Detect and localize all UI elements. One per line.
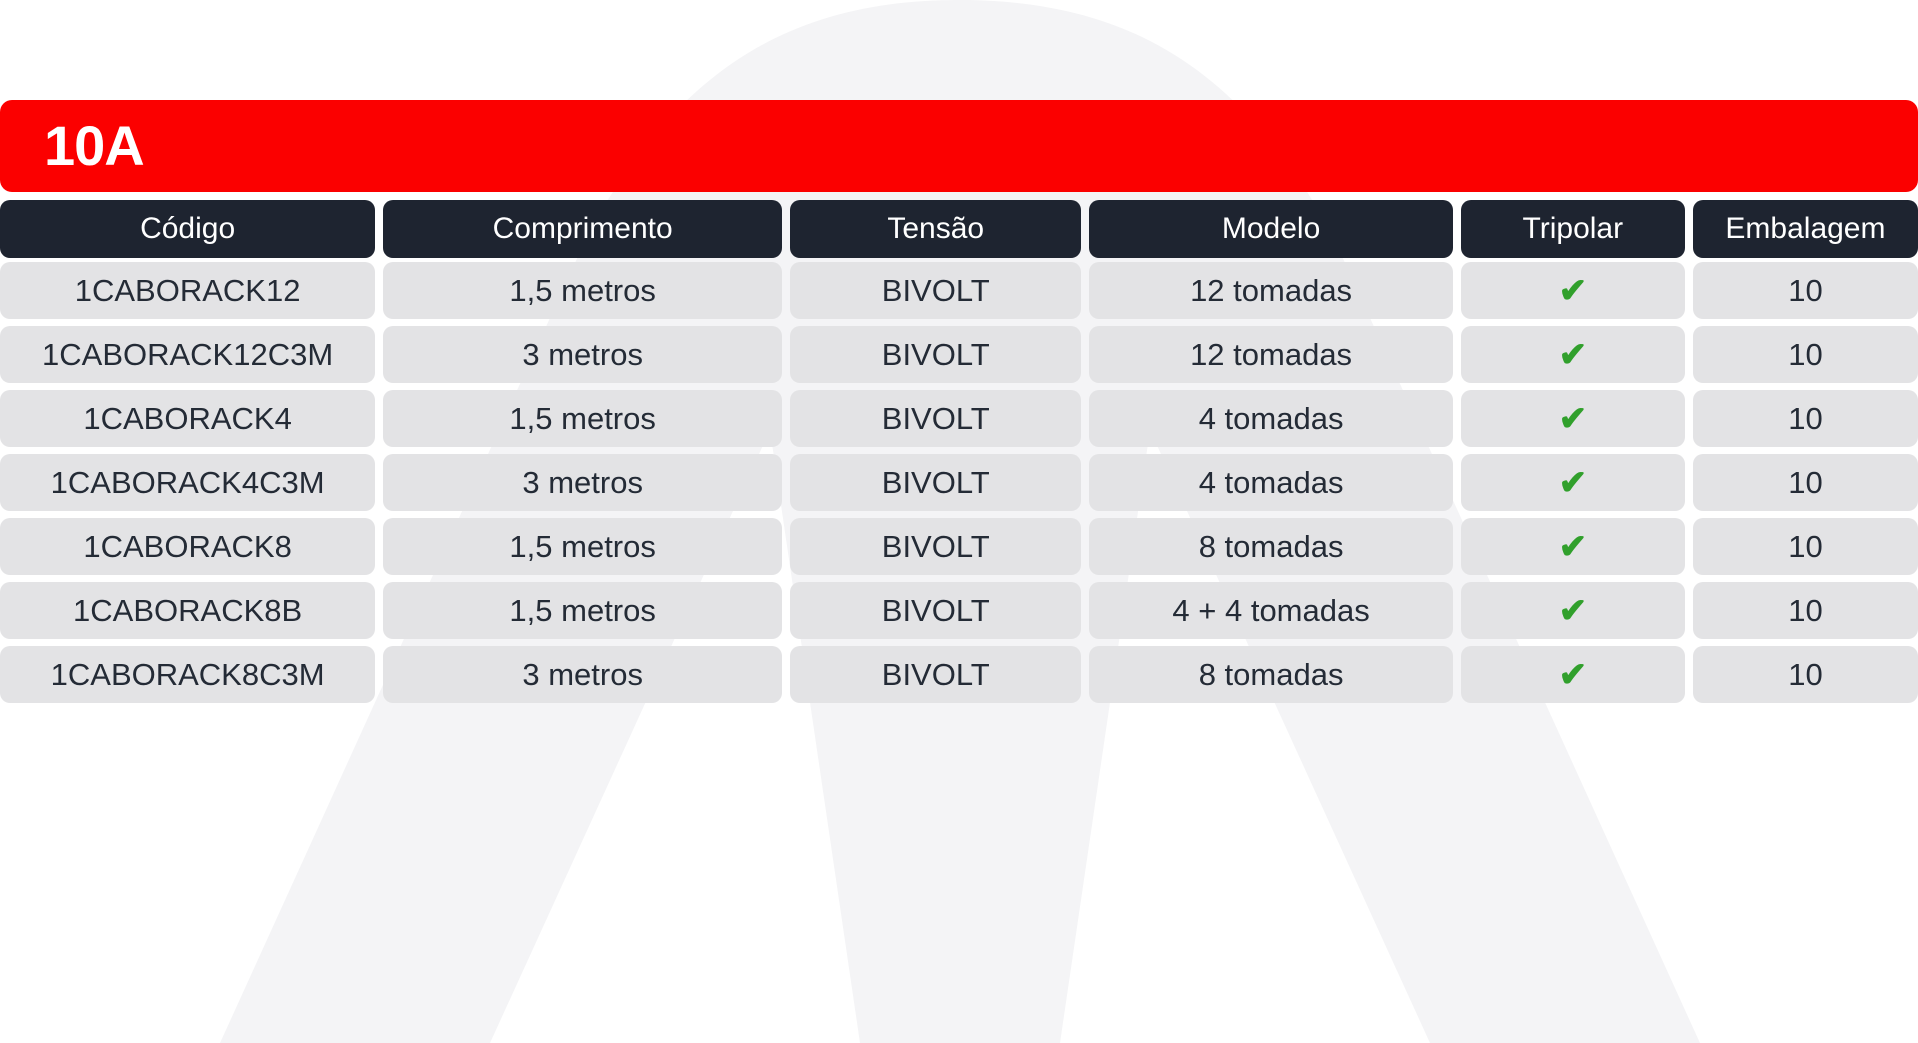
check-icon: ✔ xyxy=(1559,274,1588,308)
cell-modelo: 8 tomadas xyxy=(1089,518,1452,575)
table-row: 1CABORACK81,5 metrosBIVOLT8 tomadas✔10 xyxy=(0,518,1918,575)
cell-comprimento: 3 metros xyxy=(383,646,782,703)
cell-modelo: 12 tomadas xyxy=(1089,262,1452,319)
table-row: 1CABORACK12C3M3 metrosBIVOLT12 tomadas✔1… xyxy=(0,326,1918,383)
cell-modelo: 12 tomadas xyxy=(1089,326,1452,383)
table-row: 1CABORACK8B1,5 metrosBIVOLT4 + 4 tomadas… xyxy=(0,582,1918,639)
table-body: 1CABORACK121,5 metrosBIVOLT12 tomadas✔10… xyxy=(0,262,1918,703)
cell-codigo: 1CABORACK8 xyxy=(0,518,375,575)
cell-comprimento: 1,5 metros xyxy=(383,582,782,639)
table-row: 1CABORACK41,5 metrosBIVOLT4 tomadas✔10 xyxy=(0,390,1918,447)
cell-tensao: BIVOLT xyxy=(790,326,1081,383)
cell-tensao: BIVOLT xyxy=(790,390,1081,447)
check-icon: ✔ xyxy=(1559,530,1588,564)
banner-title: 10A xyxy=(0,118,144,174)
table-row: 1CABORACK121,5 metrosBIVOLT12 tomadas✔10 xyxy=(0,262,1918,319)
cell-tripolar: ✔ xyxy=(1461,326,1685,383)
cell-codigo: 1CABORACK4C3M xyxy=(0,454,375,511)
cell-tensao: BIVOLT xyxy=(790,518,1081,575)
cell-tripolar: ✔ xyxy=(1461,390,1685,447)
spec-sheet-page: 10A Código Comprimento Tensão Modelo Tri… xyxy=(0,0,1918,1043)
cell-embalagem: 10 xyxy=(1693,326,1918,383)
cell-embalagem: 10 xyxy=(1693,454,1918,511)
cell-tensao: BIVOLT xyxy=(790,646,1081,703)
table-row: 1CABORACK4C3M3 metrosBIVOLT4 tomadas✔10 xyxy=(0,454,1918,511)
column-header-codigo[interactable]: Código xyxy=(0,200,375,258)
cell-tripolar: ✔ xyxy=(1461,454,1685,511)
column-header-tripolar[interactable]: Tripolar xyxy=(1461,200,1685,258)
cell-tripolar: ✔ xyxy=(1461,518,1685,575)
cell-embalagem: 10 xyxy=(1693,582,1918,639)
cell-codigo: 1CABORACK12C3M xyxy=(0,326,375,383)
cell-modelo: 4 + 4 tomadas xyxy=(1089,582,1452,639)
cell-embalagem: 10 xyxy=(1693,262,1918,319)
column-header-embalagem[interactable]: Embalagem xyxy=(1693,200,1918,258)
check-icon: ✔ xyxy=(1559,402,1588,436)
cell-modelo: 4 tomadas xyxy=(1089,454,1452,511)
column-header-tensao[interactable]: Tensão xyxy=(790,200,1081,258)
table-header-row: Código Comprimento Tensão Modelo Tripola… xyxy=(0,200,1918,258)
cell-modelo: 4 tomadas xyxy=(1089,390,1452,447)
cell-tripolar: ✔ xyxy=(1461,582,1685,639)
product-spec-table: Código Comprimento Tensão Modelo Tripola… xyxy=(0,200,1918,710)
cell-embalagem: 10 xyxy=(1693,518,1918,575)
cell-modelo: 8 tomadas xyxy=(1089,646,1452,703)
cell-tripolar: ✔ xyxy=(1461,262,1685,319)
cell-codigo: 1CABORACK12 xyxy=(0,262,375,319)
cell-comprimento: 3 metros xyxy=(383,454,782,511)
cell-comprimento: 1,5 metros xyxy=(383,390,782,447)
cell-tensao: BIVOLT xyxy=(790,454,1081,511)
check-icon: ✔ xyxy=(1559,594,1588,628)
table-row: 1CABORACK8C3M3 metrosBIVOLT8 tomadas✔10 xyxy=(0,646,1918,703)
cell-embalagem: 10 xyxy=(1693,646,1918,703)
check-icon: ✔ xyxy=(1559,466,1588,500)
cell-comprimento: 3 metros xyxy=(383,326,782,383)
check-icon: ✔ xyxy=(1559,658,1588,692)
cell-tensao: BIVOLT xyxy=(790,262,1081,319)
cell-codigo: 1CABORACK4 xyxy=(0,390,375,447)
cell-tripolar: ✔ xyxy=(1461,646,1685,703)
cell-comprimento: 1,5 metros xyxy=(383,262,782,319)
cell-codigo: 1CABORACK8B xyxy=(0,582,375,639)
column-header-modelo[interactable]: Modelo xyxy=(1089,200,1452,258)
cell-tensao: BIVOLT xyxy=(790,582,1081,639)
column-header-comprimento[interactable]: Comprimento xyxy=(383,200,782,258)
cell-comprimento: 1,5 metros xyxy=(383,518,782,575)
check-icon: ✔ xyxy=(1559,338,1588,372)
cell-codigo: 1CABORACK8C3M xyxy=(0,646,375,703)
cell-embalagem: 10 xyxy=(1693,390,1918,447)
amperage-banner: 10A xyxy=(0,100,1918,192)
